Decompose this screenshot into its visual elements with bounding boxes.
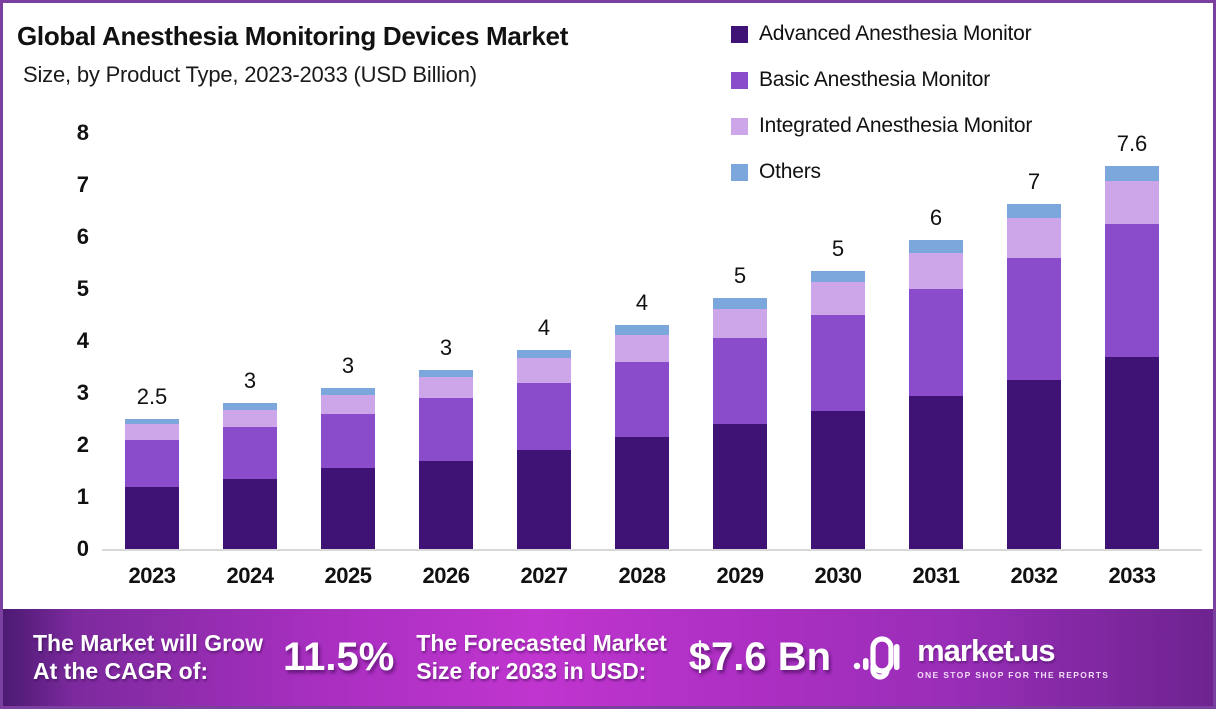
x-axis-tick-label: 2030: [811, 563, 865, 589]
cagr-caption-line1: The Market will Grow: [33, 630, 263, 658]
bar-segment[interactable]: [1007, 258, 1061, 380]
bar-value-label: 2.5: [137, 384, 168, 410]
bar-segment[interactable]: [615, 325, 669, 334]
x-axis-line: [102, 549, 1202, 551]
bar-value-label: 3: [244, 368, 256, 394]
stacked-bar[interactable]: 4: [615, 325, 669, 549]
bar-segment[interactable]: [1105, 166, 1159, 181]
bar-segment[interactable]: [713, 309, 767, 339]
chart-area: 012345678 2.53334455677.6 20232024202520…: [3, 3, 1216, 609]
stacked-bar[interactable]: 3: [223, 403, 277, 549]
bar-segment[interactable]: [321, 395, 375, 414]
forecast-caption-line2: Size for 2033 in USD:: [416, 658, 667, 686]
bar-value-label: 5: [734, 263, 746, 289]
bar-segment[interactable]: [811, 411, 865, 549]
x-axis-tick-label: 2028: [615, 563, 669, 589]
bar-segment[interactable]: [811, 315, 865, 411]
stacked-bar[interactable]: 3: [419, 370, 473, 549]
bar-segment[interactable]: [1007, 218, 1061, 258]
bar-segment[interactable]: [909, 253, 963, 289]
y-axis: 012345678: [55, 121, 89, 553]
logo-tagline: ONE STOP SHOP FOR THE REPORTS: [917, 670, 1109, 680]
bar-group[interactable]: 6: [909, 240, 963, 549]
bar-segment[interactable]: [811, 271, 865, 282]
bar-group[interactable]: 7.6: [1105, 166, 1159, 549]
bar-group[interactable]: 2.5: [125, 419, 179, 549]
x-axis-tick-label: 2025: [321, 563, 375, 589]
infographic-container: Global Anesthesia Monitoring Devices Mar…: [0, 0, 1216, 709]
y-axis-tick-label: 5: [77, 276, 89, 302]
bar-segment[interactable]: [321, 468, 375, 549]
bar-segment[interactable]: [419, 377, 473, 398]
y-axis-tick-label: 4: [77, 328, 89, 354]
bar-segment[interactable]: [909, 240, 963, 253]
x-axis-tick-label: 2029: [713, 563, 767, 589]
x-axis-tick-label: 2023: [125, 563, 179, 589]
x-axis-tick-label: 2033: [1105, 563, 1159, 589]
bar-segment[interactable]: [517, 450, 571, 549]
bar-value-label: 4: [538, 315, 550, 341]
bar-segment[interactable]: [1105, 181, 1159, 224]
bar-segment[interactable]: [517, 383, 571, 451]
forecast-value: $7.6 Bn: [689, 635, 831, 680]
x-axis-tick-label: 2024: [223, 563, 277, 589]
bar-value-label: 7: [1028, 169, 1040, 195]
bar-segment[interactable]: [713, 298, 767, 308]
x-axis-tick-label: 2026: [419, 563, 473, 589]
bar-group[interactable]: 5: [713, 298, 767, 549]
footer-banner: The Market will Grow At the CAGR of: 11.…: [3, 609, 1213, 706]
cagr-caption-line2: At the CAGR of:: [33, 658, 263, 686]
logo-name: market.us: [917, 633, 1054, 668]
bar-segment[interactable]: [223, 410, 277, 427]
y-axis-tick-label: 1: [77, 484, 89, 510]
bar-segment[interactable]: [223, 479, 277, 549]
cagr-value: 11.5%: [283, 635, 394, 680]
stacked-bar[interactable]: 5: [811, 271, 865, 549]
bar-segment[interactable]: [419, 398, 473, 460]
forecast-caption-line1: The Forecasted Market: [416, 630, 667, 658]
bar-segment[interactable]: [1007, 204, 1061, 218]
market-us-logo[interactable]: market.us ONE STOP SHOP FOR THE REPORTS: [851, 635, 1109, 680]
bar-value-label: 5: [832, 236, 844, 262]
plot-area: 2.53334455677.6: [102, 133, 1202, 549]
y-axis-tick-label: 0: [77, 536, 89, 562]
forecast-caption: The Forecasted Market Size for 2033 in U…: [416, 630, 667, 685]
bar-value-label: 6: [930, 205, 942, 231]
bar-segment[interactable]: [517, 350, 571, 358]
bar-segment[interactable]: [125, 424, 179, 440]
bar-segment[interactable]: [125, 440, 179, 487]
bar-segment[interactable]: [517, 358, 571, 382]
x-axis-tick-label: 2031: [909, 563, 963, 589]
bar-group[interactable]: 4: [615, 325, 669, 549]
bar-segment[interactable]: [223, 427, 277, 479]
bar-segment[interactable]: [615, 335, 669, 362]
bar-segment[interactable]: [321, 388, 375, 395]
stacked-bar[interactable]: 3: [321, 388, 375, 549]
bar-group[interactable]: 3: [321, 388, 375, 549]
market-us-mark-icon: [851, 636, 907, 680]
bar-value-label: 3: [440, 335, 452, 361]
bar-segment[interactable]: [713, 424, 767, 549]
bar-segment[interactable]: [419, 370, 473, 378]
bar-segment[interactable]: [1105, 357, 1159, 549]
bar-segment[interactable]: [909, 289, 963, 396]
bar-group[interactable]: 3: [419, 370, 473, 549]
bar-segment[interactable]: [909, 396, 963, 549]
stacked-bar[interactable]: 5: [713, 298, 767, 549]
bar-group[interactable]: 7: [1007, 204, 1061, 549]
stacked-bar[interactable]: 2.5: [125, 419, 179, 549]
bar-group[interactable]: 4: [517, 350, 571, 549]
stacked-bar[interactable]: 7: [1007, 204, 1061, 549]
bar-segment[interactable]: [1007, 380, 1061, 549]
bar-segment[interactable]: [321, 414, 375, 469]
stacked-bar[interactable]: 6: [909, 240, 963, 549]
x-axis: 2023202420252026202720282029203020312032…: [102, 563, 1202, 599]
bar-segment[interactable]: [1105, 224, 1159, 357]
bar-segment[interactable]: [615, 362, 669, 437]
cagr-caption: The Market will Grow At the CAGR of:: [33, 630, 263, 685]
y-axis-tick-label: 7: [77, 172, 89, 198]
bar-group[interactable]: 3: [223, 403, 277, 549]
y-axis-tick-label: 2: [77, 432, 89, 458]
y-axis-tick-label: 8: [77, 120, 89, 146]
bar-segment[interactable]: [419, 461, 473, 549]
stacked-bar[interactable]: 7.6: [1105, 166, 1159, 549]
x-axis-tick-label: 2027: [517, 563, 571, 589]
bar-segment[interactable]: [615, 437, 669, 549]
x-axis-tick-label: 2032: [1007, 563, 1061, 589]
bar-group[interactable]: 5: [811, 271, 865, 549]
bar-value-label: 4: [636, 290, 648, 316]
bar-segment[interactable]: [811, 282, 865, 315]
bar-segment[interactable]: [713, 338, 767, 424]
bar-value-label: 3: [342, 353, 354, 379]
bar-value-label: 7.6: [1117, 131, 1148, 157]
y-axis-tick-label: 3: [77, 380, 89, 406]
market-us-wordmark: market.us ONE STOP SHOP FOR THE REPORTS: [917, 635, 1109, 680]
stacked-bar[interactable]: 4: [517, 350, 571, 549]
y-axis-tick-label: 6: [77, 224, 89, 250]
bar-segment[interactable]: [125, 487, 179, 549]
